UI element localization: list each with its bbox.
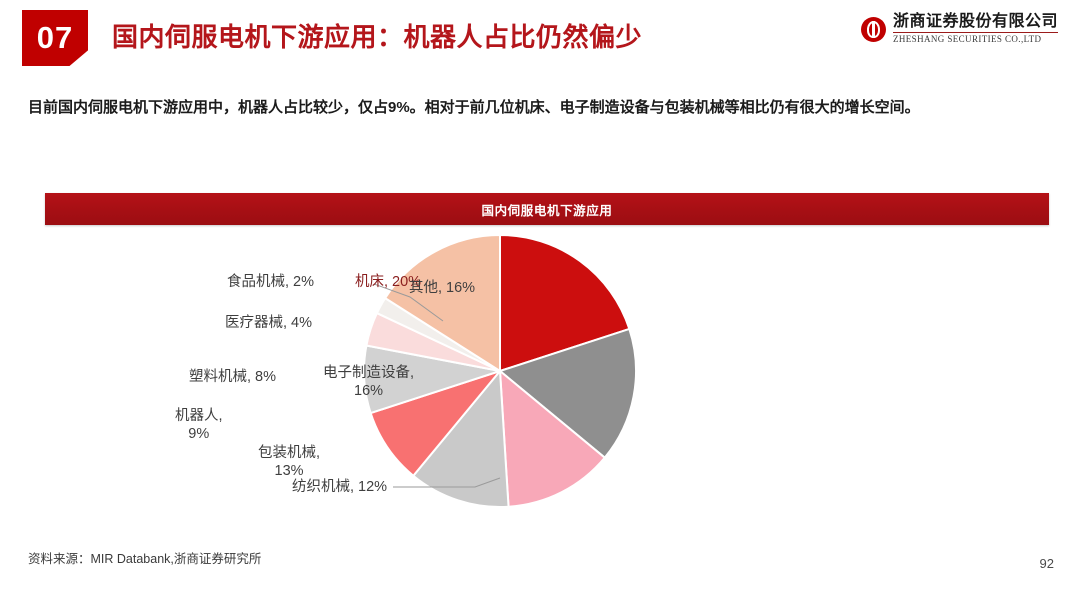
page-title: 国内伺服电机下游应用：机器人占比仍然偏少 <box>112 17 642 54</box>
pie-label-robots-value: 9% <box>175 425 231 443</box>
pie-label-packaging-machinery-name: 包装机械, <box>258 445 320 461</box>
pie-label-textile-machinery: 纺织机械, 12% <box>292 478 387 496</box>
chart-title-bar: 国内伺服电机下游应用 <box>45 193 1049 225</box>
pie-label-robots-name: 机器人, <box>175 408 223 424</box>
brand-name-en: ZHESHANG SECURITIES CO.,LTD <box>893 35 1058 44</box>
pie-label-electronics-equipment-value: 16% <box>323 382 444 400</box>
slide-header: 07 国内伺服电机下游应用：机器人占比仍然偏少 浙商证券股份有限公司 ZHESH… <box>0 0 1080 76</box>
brand-name-cn: 浙商证券股份有限公司 <box>893 14 1058 33</box>
pie-label-electronics-equipment: 电子制造设备, 16% <box>323 364 414 400</box>
page-number: 92 <box>1040 556 1054 571</box>
pie-label-medical-devices: 医疗器械, 4% <box>225 314 312 332</box>
zheshang-mark-icon <box>861 17 886 42</box>
lead-paragraph: 目前国内伺服电机下游应用中，机器人占比较少，仅占9%。相对于前几位机床、电子制造… <box>28 96 1052 119</box>
pie-label-packaging-machinery: 包装机械, 13% <box>258 444 320 480</box>
pie-chart: 机床, 20% 电子制造设备, 16% 包装机械, 13% 纺织机械, 12% … <box>45 225 1049 513</box>
pie-label-others: 其他, 16% <box>409 279 475 297</box>
source-note: 资料来源：MIR Databank,浙商证券研究所 <box>28 548 261 567</box>
section-number-badge: 07 <box>22 10 88 66</box>
pie-label-robots: 机器人, 9% <box>175 407 223 443</box>
chart-body: 机床, 20% 电子制造设备, 16% 包装机械, 13% 纺织机械, 12% … <box>45 225 1049 513</box>
company-logo: 浙商证券股份有限公司 ZHESHANG SECURITIES CO.,LTD <box>861 14 1058 44</box>
brand-text: 浙商证券股份有限公司 ZHESHANG SECURITIES CO.,LTD <box>893 14 1058 44</box>
pie-label-plastics-machinery: 塑料机械, 8% <box>189 368 276 386</box>
pie-label-food-machinery: 食品机械, 2% <box>227 273 314 291</box>
pie-label-electronics-equipment-name: 电子制造设备, <box>323 365 414 381</box>
chart-card: 国内伺服电机下游应用 机床, 20% 电子制造设备, 16% 包装机械, 13%… <box>45 193 1049 513</box>
